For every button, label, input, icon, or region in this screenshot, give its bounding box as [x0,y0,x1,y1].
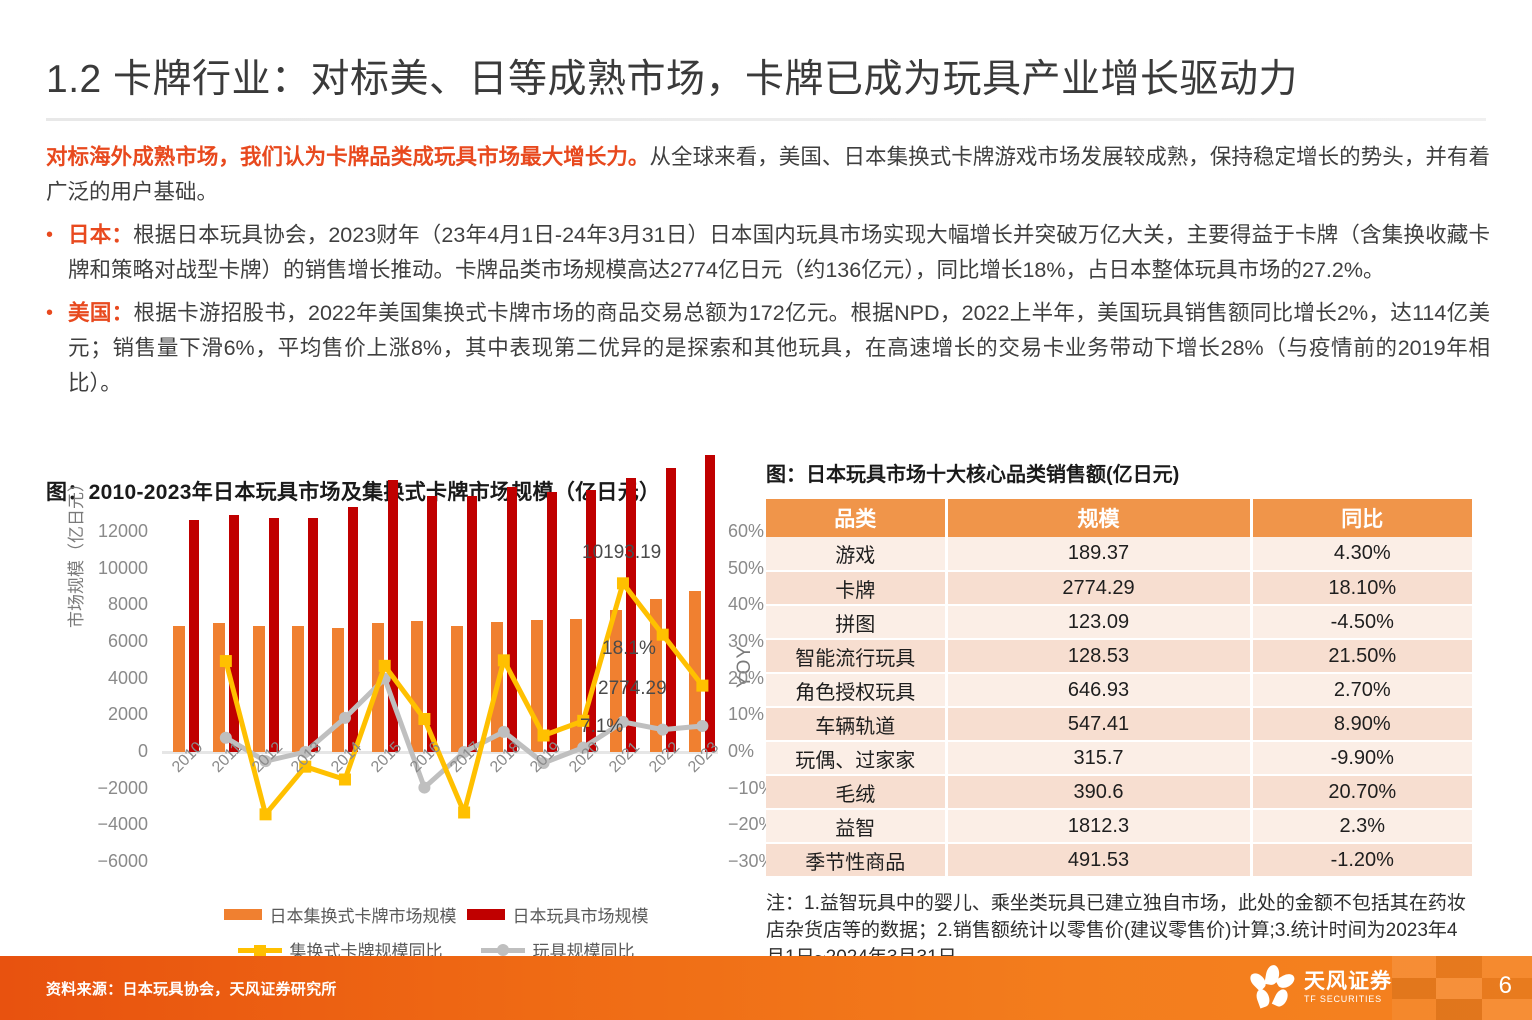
intro-highlight: 对标海外成熟市场，我们认为卡牌品类成玩具市场最大增长力。 [46,145,649,169]
table-cell: 646.93 [946,673,1251,707]
toy-yoy-line-marker [498,726,510,738]
y-tick-label: 10000 [72,558,148,579]
table-cell: 315.7 [946,741,1251,775]
bullet-usa: • 美国：根据卡游招股书，2022年美国集换式卡牌市场的商品交易总额为172亿元… [46,296,1490,401]
y-tick-label: −2000 [72,778,148,799]
table-row: 角色授权玩具646.932.70% [766,673,1472,707]
table-cell: 2.3% [1251,809,1472,843]
table-header-cell-0: 品类 [766,499,946,537]
logo-name-cn: 天风证券 [1304,970,1392,993]
page-number: 6 [1499,972,1512,1000]
y-tick-label: 8000 [72,594,148,615]
y-tick-label: 4000 [72,668,148,689]
table-cell: 角色授权玩具 [766,673,946,707]
table-cell: 4.30% [1251,537,1472,571]
card-yoy-line-marker [696,680,708,692]
y-tick-label: 0 [72,741,148,762]
y-tick-label: 6000 [72,631,148,652]
table-cell: 2774.29 [946,571,1251,605]
table-cell: 189.37 [946,537,1251,571]
table-row: 智能流行玩具128.5321.50% [766,639,1472,673]
legend-line-icon [238,944,282,956]
card-yoy-line-marker [458,807,470,819]
body-text: 对标海外成熟市场，我们认为卡牌品类成玩具市场最大增长力。从全球来看，美国、日本集… [46,140,1490,401]
legend-swatch-icon [467,909,505,920]
flower-logo-icon [1250,964,1296,1010]
title-divider [46,118,1486,121]
logo-name-en: TF SECURITIES [1304,993,1392,1005]
table-cell: 390.6 [946,775,1251,809]
table-row: 卡牌2774.2918.10% [766,571,1472,605]
table-row: 游戏189.374.30% [766,537,1472,571]
slide-root: 1.2 卡牌行业：对标美、日等成熟市场，卡牌已成为玩具产业增长驱动力 对标海外成… [0,0,1532,1020]
legend-swatch-icon [224,909,262,920]
y-tick-label: −6000 [72,851,148,872]
table-cell: -4.50% [1251,605,1472,639]
legend-line-icon [481,944,525,956]
y-tick-label: 2000 [72,704,148,725]
y-tick-label: 12000 [72,521,148,542]
table-cell: 卡牌 [766,571,946,605]
card-yoy-line-marker [260,808,272,820]
bullet-usa-lead: 美国： [68,301,133,325]
table-cell: 20.70% [1251,775,1472,809]
card-yoy-line-marker [498,654,510,666]
company-logo: 天风证券 TF SECURITIES [1250,964,1392,1010]
bullet-marker-icon: • [46,218,68,288]
table-cell: 123.09 [946,605,1251,639]
footer-bar: 资料来源：日本玩具协会，天风证券研究所 天风证券 TF SECURITIES 6 [0,956,1532,1020]
table-row: 季节性商品491.53-1.20% [766,843,1472,877]
table-cell: 季节性商品 [766,843,946,877]
table-block: 图：日本玩具市场十大核心品类销售额(亿日元) 品类规模同比 游戏189.374.… [766,458,1478,971]
table-cell: -1.20% [1251,843,1472,877]
legend-label: 日本集换式卡牌市场规模 [270,902,457,927]
table-header-cell-1: 规模 [946,499,1251,537]
table-body: 游戏189.374.30%卡牌2774.2918.10%拼图123.09-4.5… [766,537,1472,877]
table-row: 拼图123.09-4.50% [766,605,1472,639]
legend-item-toy-bar: 日本玩具市场规模 [467,902,649,927]
bullet-usa-a: 根据卡游招股书，2022年美国集换式卡牌市场的商品交易总额为172亿元。根据NP… [68,301,1490,395]
table-cell: 拼图 [766,605,946,639]
table-row: 毛绒390.620.70% [766,775,1472,809]
card-yoy-line-marker [379,660,391,672]
table-row: 益智1812.32.3% [766,809,1472,843]
table-cell: 128.53 [946,639,1251,673]
table-cell: 1812.3 [946,809,1251,843]
table-row: 车辆轨道547.418.90% [766,707,1472,741]
card-yoy-line-marker [657,629,669,641]
table-row: 玩偶、过家家315.7-9.90% [766,741,1472,775]
source-note: 资料来源：日本玩具协会，天风证券研究所 [46,978,337,999]
table-cell: 毛绒 [766,775,946,809]
table-cell: 18.10% [1251,571,1472,605]
table-title: 图：日本玩具市场十大核心品类销售额(亿日元) [766,458,1478,487]
legend-row-bars: 日本集换式卡牌市场规模 日本玩具市场规模 [166,902,706,927]
card-yoy-line-marker [418,713,430,725]
table-cell: 8.90% [1251,707,1472,741]
data-label: 18.1% [602,638,656,660]
table-cell: 益智 [766,809,946,843]
table-cell: 547.41 [946,707,1251,741]
table-cell: 玩偶、过家家 [766,741,946,775]
toy-yoy-line-marker [657,724,669,736]
table-cell: 491.53 [946,843,1251,877]
table-cell: 智能流行玩具 [766,639,946,673]
toy-yoy-line-marker [418,782,430,794]
table-cell: 车辆轨道 [766,707,946,741]
bullet-usa-text: 美国：根据卡游招股书，2022年美国集换式卡牌市场的商品交易总额为172亿元。根… [68,296,1490,401]
table-cell: -9.90% [1251,741,1472,775]
bullet-japan-text: 日本：根据日本玩具协会，2023财年（23年4月1日-24年3月31日）日本国内… [68,218,1490,288]
card-yoy-line-marker [617,577,629,589]
bullet-japan-b: 占日本整体玩具市场的27.2%。 [1087,258,1384,282]
bullet-japan: • 日本：根据日本玩具协会，2023财年（23年4月1日-24年3月31日）日本… [46,218,1490,288]
table-header-row: 品类规模同比 [766,499,1472,537]
toy-yoy-line-marker [696,720,708,732]
card-yoy-line-marker [220,655,232,667]
logo-text: 天风证券 TF SECURITIES [1304,970,1392,1005]
page-title: 1.2 卡牌行业：对标美、日等成熟市场，卡牌已成为玩具产业增长驱动力 [46,48,1298,104]
data-label: 10193.19 [582,542,661,564]
card-yoy-line-marker [538,730,550,742]
chart-canvas: 市场规模（亿日元） YOY 12000100008000600040002000… [46,520,746,940]
chart-block: 图：2010-2023年日本玩具市场及集换式卡牌市场规模（亿日元） 市场规模（亿… [46,476,746,940]
y-tick-label: −4000 [72,814,148,835]
data-label: 2774.29 [598,678,667,700]
toy-yoy-line-marker [339,712,351,724]
table-cell: 21.50% [1251,639,1472,673]
table-header-cell-2: 同比 [1251,499,1472,537]
table-cell: 游戏 [766,537,946,571]
table-cell: 2.70% [1251,673,1472,707]
legend-item-card-bar: 日本集换式卡牌市场规模 [224,902,457,927]
bullet-japan-lead: 日本： [68,223,133,247]
bullet-marker-icon: • [46,296,68,401]
category-sales-table: 品类规模同比 游戏189.374.30%卡牌2774.2918.10%拼图123… [766,499,1472,878]
bullet-japan-bold: 卡牌品类市场规模高达2774亿日元（约136亿元），同比增长18%， [455,258,1087,282]
intro-paragraph: 对标海外成熟市场，我们认为卡牌品类成玩具市场最大增长力。从全球来看，美国、日本集… [46,140,1490,210]
data-label: 7.1% [580,716,623,738]
legend-label: 日本玩具市场规模 [513,902,649,927]
